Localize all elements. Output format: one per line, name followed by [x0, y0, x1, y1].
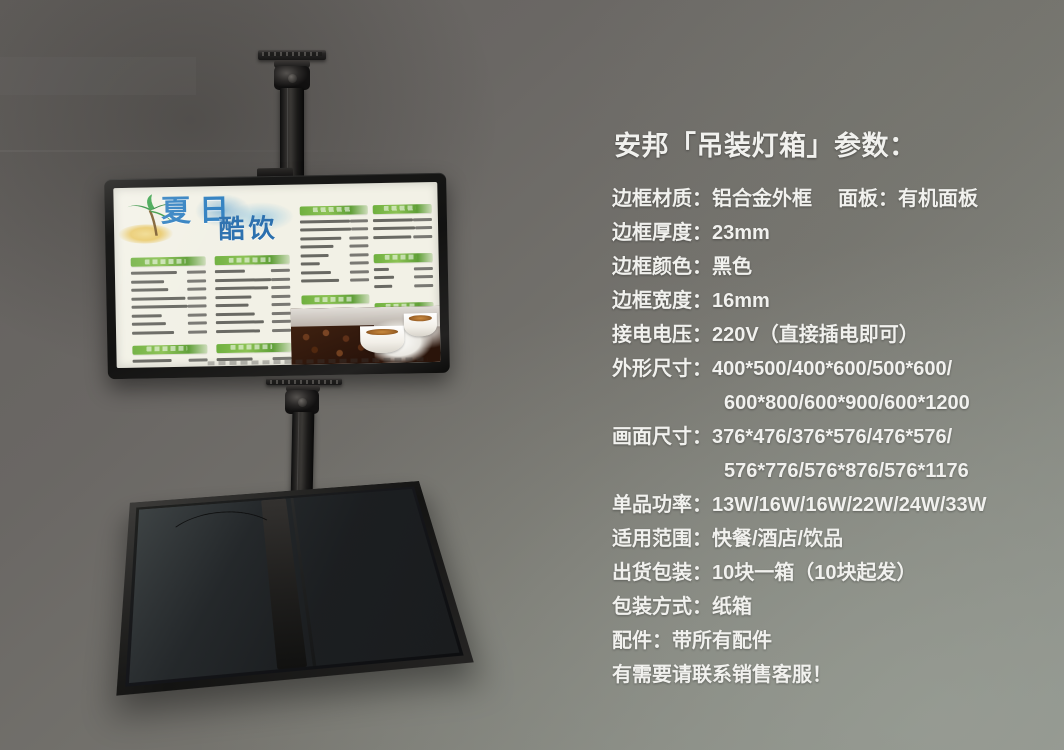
- spec-line-frame-thickness: 边框厚度：23mm: [612, 216, 1042, 250]
- spec-line-frame-material: 边框材质：铝合金外框面板：有机面板: [612, 182, 1042, 216]
- menu-item-price: [413, 267, 432, 270]
- panel-plate-lower: [266, 378, 342, 385]
- menu-item-name: [373, 226, 414, 230]
- menu-item-price: [414, 275, 433, 278]
- spec-line-contact-sales: 有需要请联系销售客服！: [612, 658, 1042, 692]
- menu-item-name: [131, 288, 168, 292]
- menu-row: [374, 273, 432, 281]
- swivel-joint-upper: [274, 66, 310, 90]
- ceiling-plate-holes: [262, 52, 322, 56]
- menu-title-char-3: 饮: [248, 215, 275, 241]
- menu-row: [301, 259, 369, 267]
- menu-item-price: [272, 311, 291, 314]
- menu-row: [374, 282, 432, 290]
- menu-item-name: [301, 245, 334, 249]
- menu-row: [216, 292, 291, 300]
- section-header: [373, 204, 431, 214]
- menu-row: [132, 294, 207, 302]
- menu-item-name: [216, 304, 249, 308]
- menu-hero-banner: 夏 日 酷 饮: [113, 185, 299, 261]
- menu-row: [301, 276, 369, 284]
- menu-row: [132, 320, 207, 328]
- menu-item-name: [374, 284, 392, 287]
- menu-item-price: [271, 277, 290, 280]
- menu-item-name: [132, 305, 188, 309]
- spec-line-packaging-method: 包装方式：纸箱: [612, 590, 1042, 624]
- spec-line-voltage: 接电电压：220V（直接插电即可）: [612, 318, 1042, 352]
- ceiling-plate-upper: [258, 50, 326, 60]
- menu-item-name: [301, 279, 339, 283]
- menu-item-price: [271, 269, 290, 272]
- menu-row: [216, 284, 291, 292]
- menu-row: [132, 328, 207, 336]
- menu-row: [300, 225, 368, 233]
- menu-item-price: [413, 218, 431, 221]
- menu-item-name: [132, 314, 162, 318]
- coffee-cup-secondary: [404, 313, 437, 337]
- menu-item-price: [350, 219, 368, 222]
- spec-line-application: 适用范围：快餐/酒店/饮品: [612, 522, 1042, 556]
- menu-item-name: [301, 236, 342, 240]
- menu-item-price: [272, 328, 291, 331]
- menu-item-name: [132, 296, 186, 300]
- spec-panel: 安邦「吊装灯箱」参数： 边框材质：铝合金外框面板：有机面板 边框厚度：23mm …: [612, 124, 1042, 692]
- menu-item-price: [187, 279, 206, 282]
- menu-row: [132, 303, 207, 311]
- menu-item-name: [216, 312, 255, 316]
- menu-item-price: [187, 313, 206, 316]
- menu-item-name: [132, 331, 174, 335]
- menu-item-price: [350, 278, 369, 281]
- menu-item-name: [216, 295, 252, 299]
- spec-line-graphic-size-cont: 576*776/576*876/576*1176: [612, 454, 1042, 488]
- rear-panel-surface: [129, 489, 459, 683]
- menu-row: [301, 268, 369, 276]
- menu-section: [131, 257, 207, 337]
- menu-section: [374, 253, 433, 290]
- section-header: [131, 257, 206, 267]
- menu-section: [132, 344, 208, 368]
- menu-row: [301, 251, 369, 259]
- menu-item-price: [187, 271, 206, 274]
- menu-item-name: [301, 271, 331, 275]
- menu-section: [300, 205, 370, 285]
- menu-row: [131, 286, 206, 294]
- menu-item-name: [131, 280, 164, 284]
- spec-line-frame-color: 边框颜色：黑色: [612, 250, 1042, 284]
- section-header: [374, 253, 432, 263]
- coffee-cup-main: [360, 326, 405, 354]
- menu-row: [131, 277, 206, 285]
- menu-section: [373, 204, 432, 241]
- swivel-joint-lower: [285, 390, 319, 414]
- menu-column-left: [131, 257, 208, 369]
- menu-item-name: [301, 262, 320, 265]
- menu-item-name: [132, 322, 166, 326]
- spec-line-outer-size-cont: 600*800/600*900/600*1200: [612, 386, 1042, 420]
- menu-item-price: [350, 244, 369, 247]
- menu-row: [373, 216, 431, 224]
- section-header: [132, 344, 207, 354]
- menu-row: [373, 224, 431, 232]
- menu-title-char-0: 夏: [161, 197, 192, 228]
- menu-item-name: [373, 218, 413, 222]
- menu-row: [216, 326, 291, 334]
- menu-item-name: [215, 270, 245, 274]
- menu-item-name: [216, 320, 264, 324]
- lightbox-panel-rear: [128, 478, 436, 684]
- product-photo-scene: 夏 日 酷 饮: [0, 0, 1064, 750]
- section-header: [215, 255, 290, 265]
- panel-plate-holes: [270, 380, 338, 384]
- menu-row: [132, 311, 207, 319]
- menu-item-name: [374, 267, 389, 270]
- menu-row: [215, 275, 290, 283]
- menu-column-fourth: [373, 204, 434, 324]
- section-header: [302, 294, 370, 304]
- spec-extra: 面板：有机面板: [838, 188, 978, 210]
- menu-row: [300, 217, 368, 225]
- menu-item-price: [271, 303, 290, 306]
- wall-seam: [0, 150, 420, 152]
- menu-row: [216, 318, 291, 326]
- menu-item-name: [300, 219, 350, 223]
- wall-patch: [0, 57, 196, 95]
- menu-item-name: [131, 271, 177, 275]
- rear-panel-frame: [116, 481, 473, 696]
- menu-item-price: [350, 261, 369, 264]
- menu-row: [373, 233, 431, 241]
- menu-item-price: [188, 330, 207, 333]
- spec-title: 安邦「吊装灯箱」参数：: [614, 124, 1042, 163]
- menu-title-char-2: 酷: [218, 216, 245, 242]
- spec-line-power: 单品功率：13W/16W/16W/22W/24W/33W: [612, 488, 1042, 522]
- spec-line-graphic-size: 画面尺寸：376*476/376*576/476*576/: [612, 420, 1042, 454]
- menu-item-price: [188, 358, 207, 361]
- menu-row: [216, 301, 291, 309]
- menu-row: [216, 309, 291, 317]
- menu-item-name: [216, 286, 268, 290]
- menu-item-price: [350, 270, 369, 273]
- menu-screen: 夏 日 酷 饮: [113, 182, 440, 368]
- menu-item-price: [188, 322, 207, 325]
- menu-item-name: [374, 276, 394, 279]
- menu-item-price: [351, 227, 368, 230]
- menu-row: [301, 242, 369, 250]
- menu-section: [215, 255, 291, 335]
- menu-item-name: [216, 329, 259, 333]
- menu-row: [374, 265, 432, 273]
- menu-item-price: [415, 226, 432, 229]
- menu-item-name: [133, 359, 172, 363]
- section-header: [217, 342, 292, 352]
- menu-item-price: [187, 288, 206, 291]
- menu-item-price: [413, 235, 432, 238]
- menu-item-price: [187, 296, 206, 299]
- menu-item-name: [301, 254, 328, 258]
- menu-item-name: [373, 235, 410, 239]
- menu-item-price: [272, 320, 291, 323]
- section-header: [300, 205, 368, 215]
- menu-item-price: [414, 284, 433, 287]
- menu-row: [301, 234, 369, 242]
- menu-item-name: [215, 278, 270, 282]
- spec-line-outer-size: 外形尺寸：400*500/400*600/500*600/: [612, 352, 1042, 386]
- lightbox-panel-front: 夏 日 酷 饮: [104, 173, 450, 380]
- spec-line-shipping-package: 出货包装：10块一箱（10块起发）: [612, 556, 1042, 590]
- menu-column-second: [215, 255, 292, 368]
- menu-row: [215, 267, 290, 275]
- menu-item-price: [188, 305, 206, 308]
- spec-label: 边框材质：铝合金外框: [612, 188, 812, 210]
- spec-line-frame-width: 边框宽度：16mm: [612, 284, 1042, 318]
- menu-item-price: [350, 253, 369, 256]
- menu-item-price: [271, 294, 290, 297]
- menu-row: [133, 356, 208, 364]
- menu-title: 夏 日 酷 饮: [158, 192, 296, 246]
- menu-row: [131, 269, 206, 277]
- ceiling-mount-upper: [252, 50, 344, 180]
- menu-item-price: [271, 286, 290, 289]
- menu-item-price: [350, 236, 369, 239]
- menu-item-name: [300, 228, 351, 232]
- spec-line-accessories: 配件：带所有配件: [612, 624, 1042, 658]
